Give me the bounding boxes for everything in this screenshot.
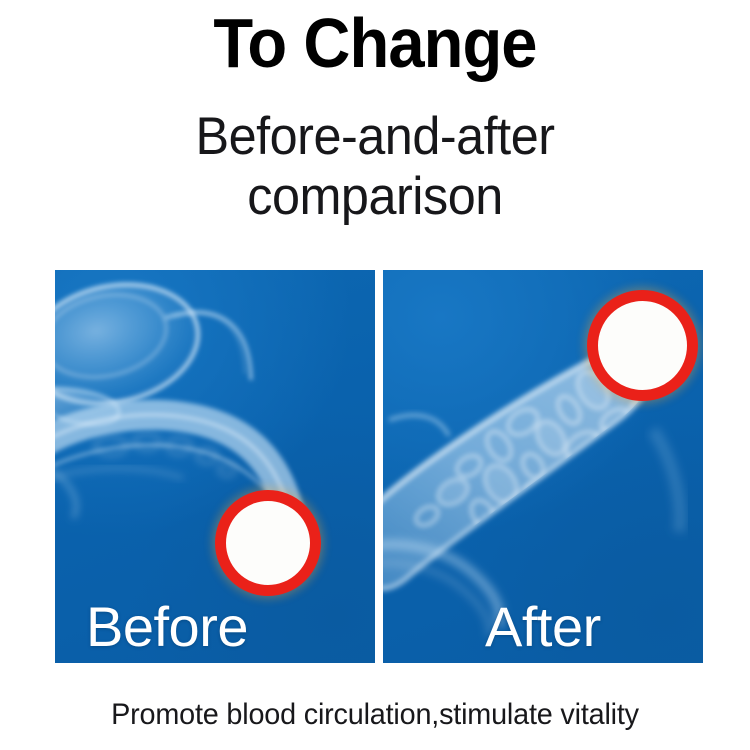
page-title: To Change (26, 6, 724, 80)
poster-root: To Change Before-and-after comparison (0, 0, 750, 750)
before-after-comparison: Before (55, 270, 703, 663)
subtitle-line-2: comparison (19, 168, 732, 226)
panel-after: After (383, 270, 703, 663)
red-circle-highlight-icon (587, 290, 698, 401)
footer-caption: Promote blood circulation,stimulate vita… (15, 697, 735, 733)
panel-before-label: Before (86, 597, 248, 657)
red-circle-highlight-icon (215, 490, 321, 596)
panel-before: Before (55, 270, 375, 663)
panel-after-label: After (485, 597, 601, 657)
subtitle-line-1: Before-and-after (19, 108, 732, 166)
